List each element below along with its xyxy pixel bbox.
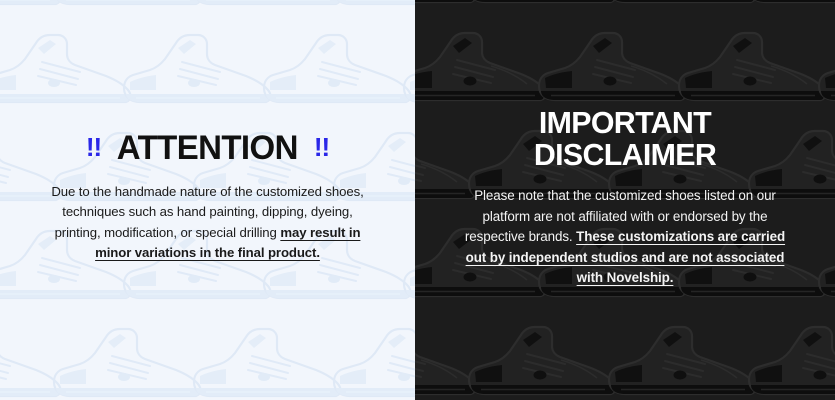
disclaimer-content: IMPORTANT DISCLAIMER Please note that th…	[415, 107, 835, 288]
attention-heading-title: ATTENTION	[117, 131, 298, 165]
attention-content: !! ATTENTION !! Due to the handmade natu…	[0, 131, 415, 263]
disclaimer-heading-line1: IMPORTANT	[441, 107, 809, 139]
disclaimer-panel: IMPORTANT DISCLAIMER Please note that th…	[415, 0, 835, 400]
disclaimer-heading-line2: DISCLAIMER	[441, 139, 809, 171]
disclaimer-banner: !! ATTENTION !! Due to the handmade natu…	[0, 0, 835, 400]
attention-heading: !! ATTENTION !!	[22, 131, 393, 165]
disclaimer-heading: IMPORTANT DISCLAIMER	[437, 107, 813, 171]
double-exclamation-icon-left: !!	[86, 134, 101, 160]
disclaimer-body: Please note that the customized shoes li…	[460, 186, 790, 289]
double-exclamation-icon-right: !!	[314, 134, 329, 160]
attention-body: Due to the handmade nature of the custom…	[48, 182, 368, 263]
attention-panel: !! ATTENTION !! Due to the handmade natu…	[0, 0, 415, 400]
